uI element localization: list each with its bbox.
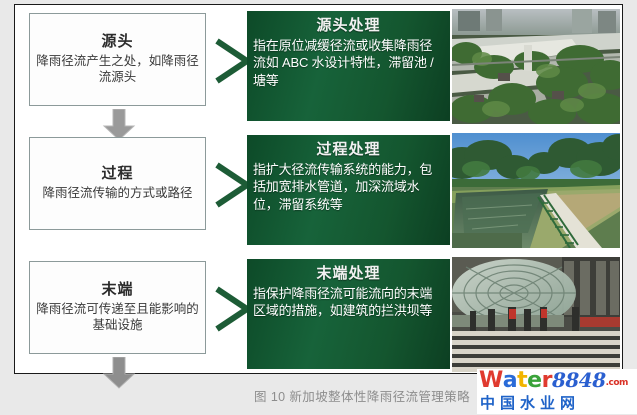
definition-box-process: 过程 降雨径流传输的方式或路径 [29,137,206,230]
definition-title-end: 末端 [101,281,133,300]
glass-canopy-entrance-photo [452,257,620,372]
strategy-row-end: 末端 降雨径流可传递至且能影响的基础设施 末端处理 指保护降雨径流可能流向的末端… [15,255,622,374]
watermark-tld: .com [606,372,628,394]
treatment-body-end: 指保护降雨径流可能流向的末端区域的措施，如建筑的拦洪坝等 [253,285,444,320]
treatment-body-source: 指在原位减缓径流或收集降雨径流如 ABC 水设计特性，滞留池 / 塘等 [253,37,444,90]
treatment-body-process: 指扩大径流传输系统的能力，包括加宽排水管道，加深流域水位，滞留系统等 [253,161,444,214]
watermark-letter-w: W [479,370,503,392]
green-roof-building-photo [452,9,620,124]
definition-body-process: 降雨径流传输的方式或路径 [42,185,192,202]
definition-body-source: 降雨径流产生之处，如降雨径流源头 [34,53,201,86]
treatment-title-process: 过程处理 [253,140,444,160]
watermark-letter-r: r [542,370,552,392]
watermark-chinese-name: 中国水业网 [477,394,637,413]
treatment-panel-process: 过程处理 指扩大径流传输系统的能力，包括加宽排水管道，加深流域水位，滞留系统等 [247,135,450,245]
watermark-wordmark: Water8848.com [477,369,637,394]
strategy-row-process: 过程 降雨径流传输的方式或路径 过程处理 指扩大径流传输系统的能力，包括加宽排水… [15,131,622,250]
definition-body-end: 降雨径流可传递至且能影响的基础设施 [34,301,201,334]
watermark-letter-e: e [527,370,541,392]
treatment-panel-source: 源头处理 指在原位减缓径流或收集降雨径流如 ABC 水设计特性，滞留池 / 塘等 [247,11,450,121]
treatment-title-end: 末端处理 [253,264,444,284]
definition-box-source: 源头 降雨径流产生之处，如降雨径流源头 [29,13,206,106]
watermark-number: 8848 [552,369,606,391]
figure-caption: 图 10 新加坡整体性降雨径流管理策略 [0,386,470,405]
figure-panel: 源头 降雨径流产生之处，如降雨径流源头 源头处理 指在原位减缓径流或收集降雨径流… [14,4,623,374]
definition-box-end: 末端 降雨径流可传递至且能影响的基础设施 [29,261,206,354]
river-canal-photo [452,133,620,248]
treatment-panel-end: 末端处理 指保护降雨径流可能流向的末端区域的措施，如建筑的拦洪坝等 [247,259,450,369]
watermark-letter-a: a [503,370,517,392]
watermark-logo: Water8848.com 中国水业网 [477,369,637,414]
definition-title-source: 源头 [101,33,133,52]
strategy-row-source: 源头 降雨径流产生之处，如降雨径流源头 源头处理 指在原位减缓径流或收集降雨径流… [15,7,622,126]
watermark-letter-t: t [517,370,527,392]
treatment-title-source: 源头处理 [253,16,444,36]
definition-title-process: 过程 [101,165,133,184]
